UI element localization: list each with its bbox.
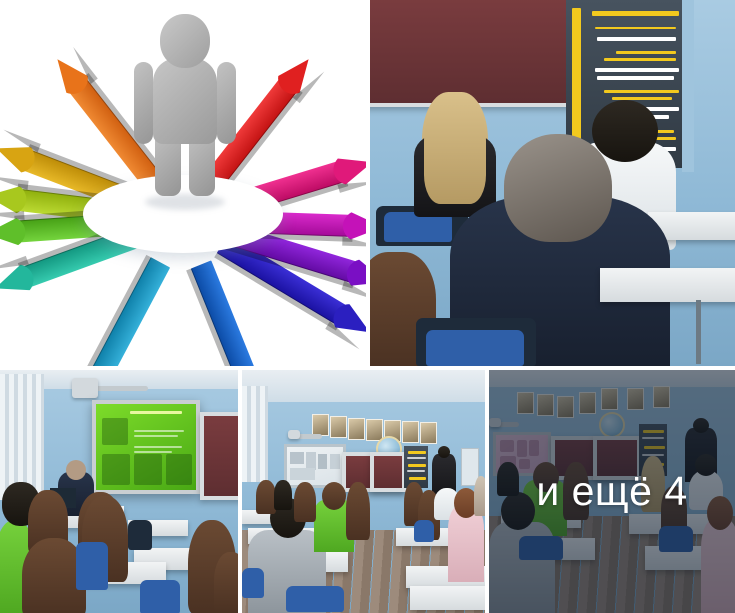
chair <box>140 580 180 613</box>
tile-arrows-clipart[interactable] <box>0 0 366 366</box>
tile-more-photos[interactable]: и ещё 4 <box>489 370 735 613</box>
center-disc <box>83 175 283 253</box>
lecture-banner-image <box>370 0 735 366</box>
photo-collage: и ещё 4 <box>0 0 735 613</box>
wall-portrait <box>312 414 329 436</box>
arrows-clipart-image <box>0 0 366 366</box>
classroom-presentation-image <box>0 370 238 613</box>
projector <box>72 378 98 398</box>
chair <box>128 520 152 550</box>
desk-leg <box>696 300 701 364</box>
tile-classroom-wide-photo[interactable] <box>242 370 485 613</box>
desk <box>410 586 485 610</box>
chair <box>286 586 344 612</box>
student <box>274 480 292 510</box>
wall-portrait <box>420 422 437 444</box>
banner-edge <box>682 0 694 172</box>
desk <box>600 268 735 302</box>
student-green-shirt-head <box>322 482 346 510</box>
presentation-screen <box>92 400 200 494</box>
more-photos-label[interactable]: и ещё 4 <box>489 370 735 613</box>
student <box>294 482 316 522</box>
projector <box>288 430 300 439</box>
teacher-head <box>66 460 86 480</box>
tile-classroom-presentation-photo[interactable] <box>0 370 238 613</box>
wall-portrait <box>348 418 365 440</box>
chair <box>76 542 108 590</box>
wall-portrait <box>402 421 419 443</box>
window-blinds <box>242 386 268 482</box>
chalkboard <box>370 0 598 107</box>
student <box>346 482 370 540</box>
chalkboard <box>200 412 238 500</box>
tile-lecture-banner-photo[interactable] <box>370 0 735 366</box>
standing-teacher-head <box>438 446 450 458</box>
student-white-shirt-head <box>592 100 658 162</box>
collage-row-bottom: и ещё 4 <box>0 370 735 613</box>
chalkboard <box>370 452 406 492</box>
man-in-suit-head <box>504 134 612 242</box>
classroom-wide-image <box>242 370 485 613</box>
chair <box>414 520 434 542</box>
ceiling <box>242 370 485 402</box>
student-blonde-hair <box>424 92 486 204</box>
student <box>214 552 238 613</box>
student <box>256 480 276 514</box>
collage-row-top <box>0 0 735 366</box>
chair <box>242 568 264 598</box>
wall-portrait <box>330 416 347 438</box>
person-right-edge <box>474 476 485 516</box>
chair <box>426 330 524 366</box>
